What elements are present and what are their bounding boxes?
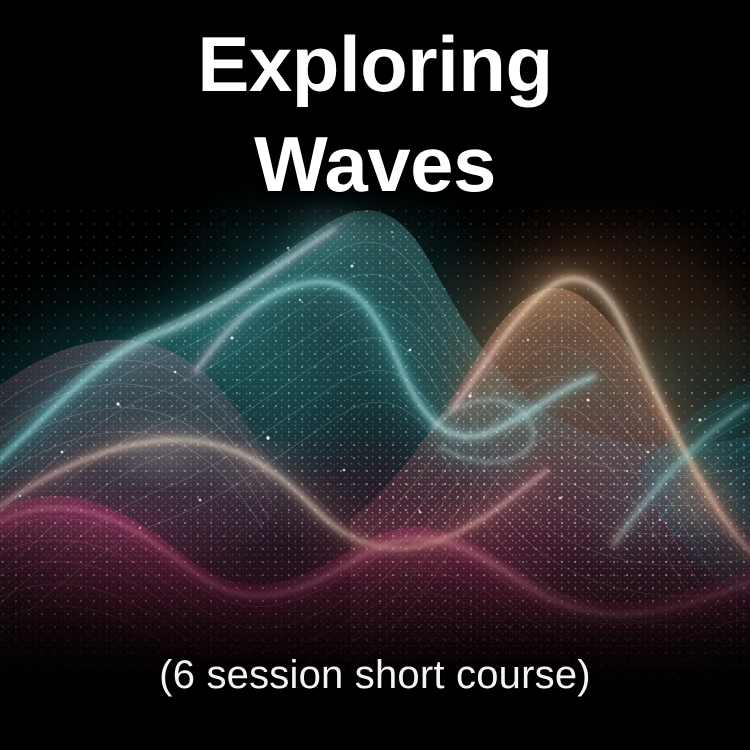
title-line-2: Waves (0, 114, 750, 214)
title-line-1: Exploring (0, 14, 750, 114)
poster-canvas: Exploring Waves (6 session short course) (0, 0, 750, 750)
page-title: Exploring Waves (0, 14, 750, 214)
subtitle: (6 session short course) (0, 650, 750, 700)
